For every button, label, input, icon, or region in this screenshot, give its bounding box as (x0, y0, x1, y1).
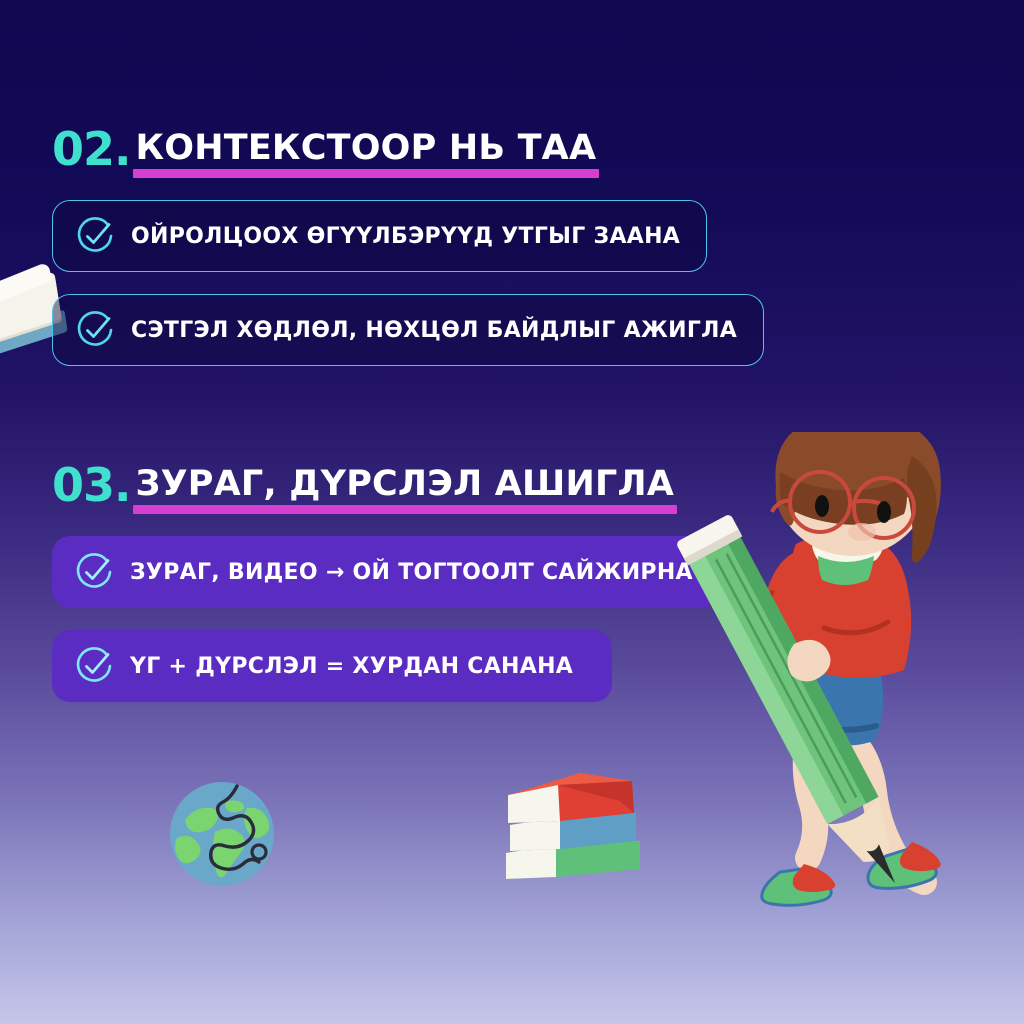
slide-canvas: 02. КОНТЕКСТООР НЬ ТАА ОЙРОЛЦООХ ӨГҮҮЛБЭ… (0, 0, 1024, 1024)
section-02-card-list: ОЙРОЛЦООХ ӨГҮҮЛБЭРҮҮД УТГЫГ ЗААНА СЭТГЭЛ… (52, 200, 764, 366)
list-item[interactable]: ҮГ + ДҮРСЛЭЛ = ХУРДАН САНАНА (52, 630, 612, 702)
list-item[interactable]: ЗУРАГ, ВИДЕО → ОЙ ТОГТООЛТ САЙЖИРНА (52, 536, 719, 608)
check-circle-icon (75, 310, 115, 350)
list-item-label: ҮГ + ДҮРСЛЭЛ = ХУРДАН САНАНА (130, 654, 573, 679)
section-03-heading: 03. ЗУРАГ, ДҮРСЛЭЛ АШИГЛА (52, 448, 719, 510)
check-circle-icon (75, 216, 115, 256)
list-item-label: ОЙРОЛЦООХ ӨГҮҮЛБЭРҮҮД УТГЫГ ЗААНА (131, 224, 680, 249)
globe-icon (163, 772, 281, 890)
kid-with-pencil-illustration (676, 432, 976, 932)
section-02-heading: 02. КОНТЕКСТООР НЬ ТАА (52, 112, 764, 174)
section-02: 02. КОНТЕКСТООР НЬ ТАА ОЙРОЛЦООХ ӨГҮҮЛБЭ… (52, 112, 764, 366)
section-02-title: КОНТЕКСТООР НЬ ТАА (133, 131, 600, 172)
list-item-label: ЗУРАГ, ВИДЕО → ОЙ ТОГТООЛТ САЙЖИРНА (130, 560, 693, 585)
check-circle-icon (74, 646, 114, 686)
list-item-label: СЭТГЭЛ ХӨДЛӨЛ, НӨХЦӨЛ БАЙДЛЫГ АЖИГЛА (131, 318, 737, 343)
section-03: 03. ЗУРАГ, ДҮРСЛЭЛ АШИГЛА ЗУРАГ, ВИДЕО →… (52, 448, 719, 702)
list-item[interactable]: СЭТГЭЛ ХӨДЛӨЛ, НӨХЦӨЛ БАЙДЛЫГ АЖИГЛА (52, 294, 764, 366)
section-03-card-list: ЗУРАГ, ВИДЕО → ОЙ ТОГТООЛТ САЙЖИРНА ҮГ +… (52, 536, 719, 702)
section-03-number: 03. (52, 462, 131, 510)
section-02-underline (133, 169, 600, 178)
section-03-title: ЗУРАГ, ДҮРСЛЭЛ АШИГЛА (133, 467, 678, 508)
check-circle-icon (74, 552, 114, 592)
section-03-title-wrap: ЗУРАГ, ДҮРСЛЭЛ АШИГЛА (133, 467, 678, 510)
book-stack-icon (482, 757, 652, 889)
list-item[interactable]: ОЙРОЛЦООХ ӨГҮҮЛБЭРҮҮД УТГЫГ ЗААНА (52, 200, 707, 272)
section-03-underline (133, 505, 678, 514)
section-02-title-wrap: КОНТЕКСТООР НЬ ТАА (133, 131, 600, 174)
section-02-number: 02. (52, 126, 131, 174)
